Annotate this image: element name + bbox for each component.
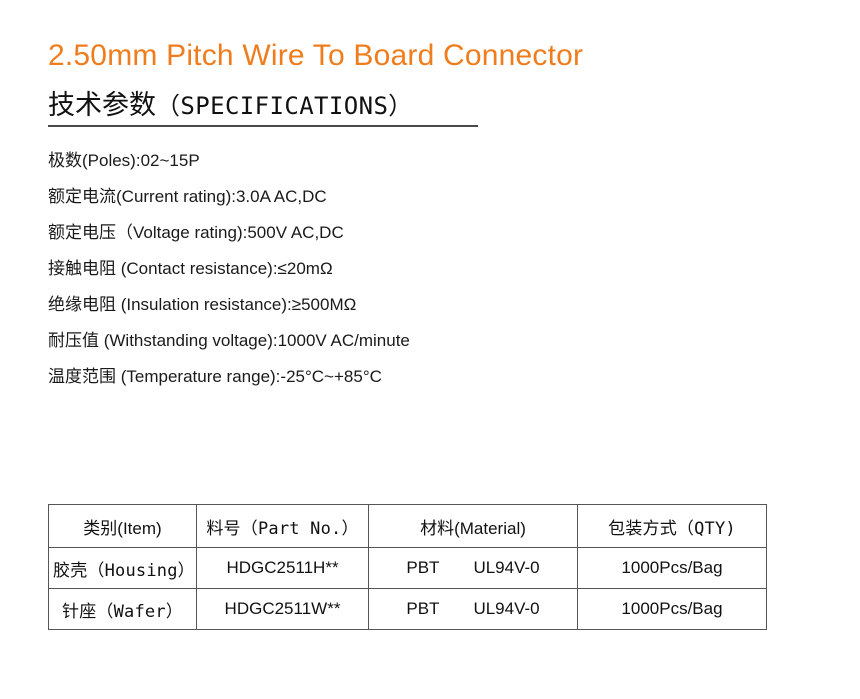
cell-qty-housing: 1000Pcs/Bag: [578, 548, 767, 589]
spec-item-insulation-resistance: 绝缘电阻 (Insulation resistance):≥500MΩ: [48, 287, 648, 323]
spec-item-withstanding-voltage: 耐压值 (Withstanding voltage):1000V AC/minu…: [48, 323, 648, 359]
material-resin: PBT: [406, 599, 439, 619]
table-row: 胶壳（Housing） HDGC2511H** PBTUL94V-0 1000P…: [49, 548, 767, 589]
spec-item-poles: 极数(Poles):02~15P: [48, 143, 648, 179]
table-header-row: 类别(Item) 料号（Part No.） 材料(Material) 包装方式（…: [49, 505, 767, 548]
product-specification-table: 类别(Item) 料号（Part No.） 材料(Material) 包装方式（…: [48, 504, 767, 630]
material-flame-rating: UL94V-0: [473, 558, 539, 578]
cell-part-no-housing: HDGC2511H**: [197, 548, 369, 589]
spec-item-current-rating: 额定电流(Current rating):3.0A AC,DC: [48, 179, 648, 215]
spec-item-temperature-range: 温度范围 (Temperature range):-25°C~+85°C: [48, 359, 648, 395]
cell-part-no-wafer: HDGC2511W**: [197, 589, 369, 630]
material-resin: PBT: [406, 558, 439, 578]
spec-heading-text: 技术参数（SPECIFICATIONS）: [48, 88, 478, 123]
cell-material-wafer: PBTUL94V-0: [369, 589, 578, 630]
page-title: 2.50mm Pitch Wire To Board Connector: [48, 38, 583, 74]
column-header-part-no: 料号（Part No.）: [197, 505, 369, 548]
column-header-material: 材料(Material): [369, 505, 578, 548]
heading-divider: [48, 125, 478, 127]
spec-item-voltage-rating: 额定电压（Voltage rating):500V AC,DC: [48, 215, 648, 251]
column-header-qty: 包装方式（QTY): [578, 505, 767, 548]
material-flame-rating: UL94V-0: [473, 599, 539, 619]
specification-list: 极数(Poles):02~15P 额定电流(Current rating):3.…: [48, 143, 648, 395]
cell-material-housing: PBTUL94V-0: [369, 548, 578, 589]
spec-heading-latin: （SPECIFICATIONS）: [156, 92, 413, 120]
cell-item-wafer: 针座（Wafer）: [49, 589, 197, 630]
table-row: 针座（Wafer） HDGC2511W** PBTUL94V-0 1000Pcs…: [49, 589, 767, 630]
cell-qty-wafer: 1000Pcs/Bag: [578, 589, 767, 630]
column-header-item: 类别(Item): [49, 505, 197, 548]
cell-item-housing: 胶壳（Housing）: [49, 548, 197, 589]
spec-item-contact-resistance: 接触电阻 (Contact resistance):≤20mΩ: [48, 251, 648, 287]
spec-heading-chinese: 技术参数: [48, 90, 156, 120]
specifications-section-header: 技术参数（SPECIFICATIONS）: [48, 88, 478, 127]
